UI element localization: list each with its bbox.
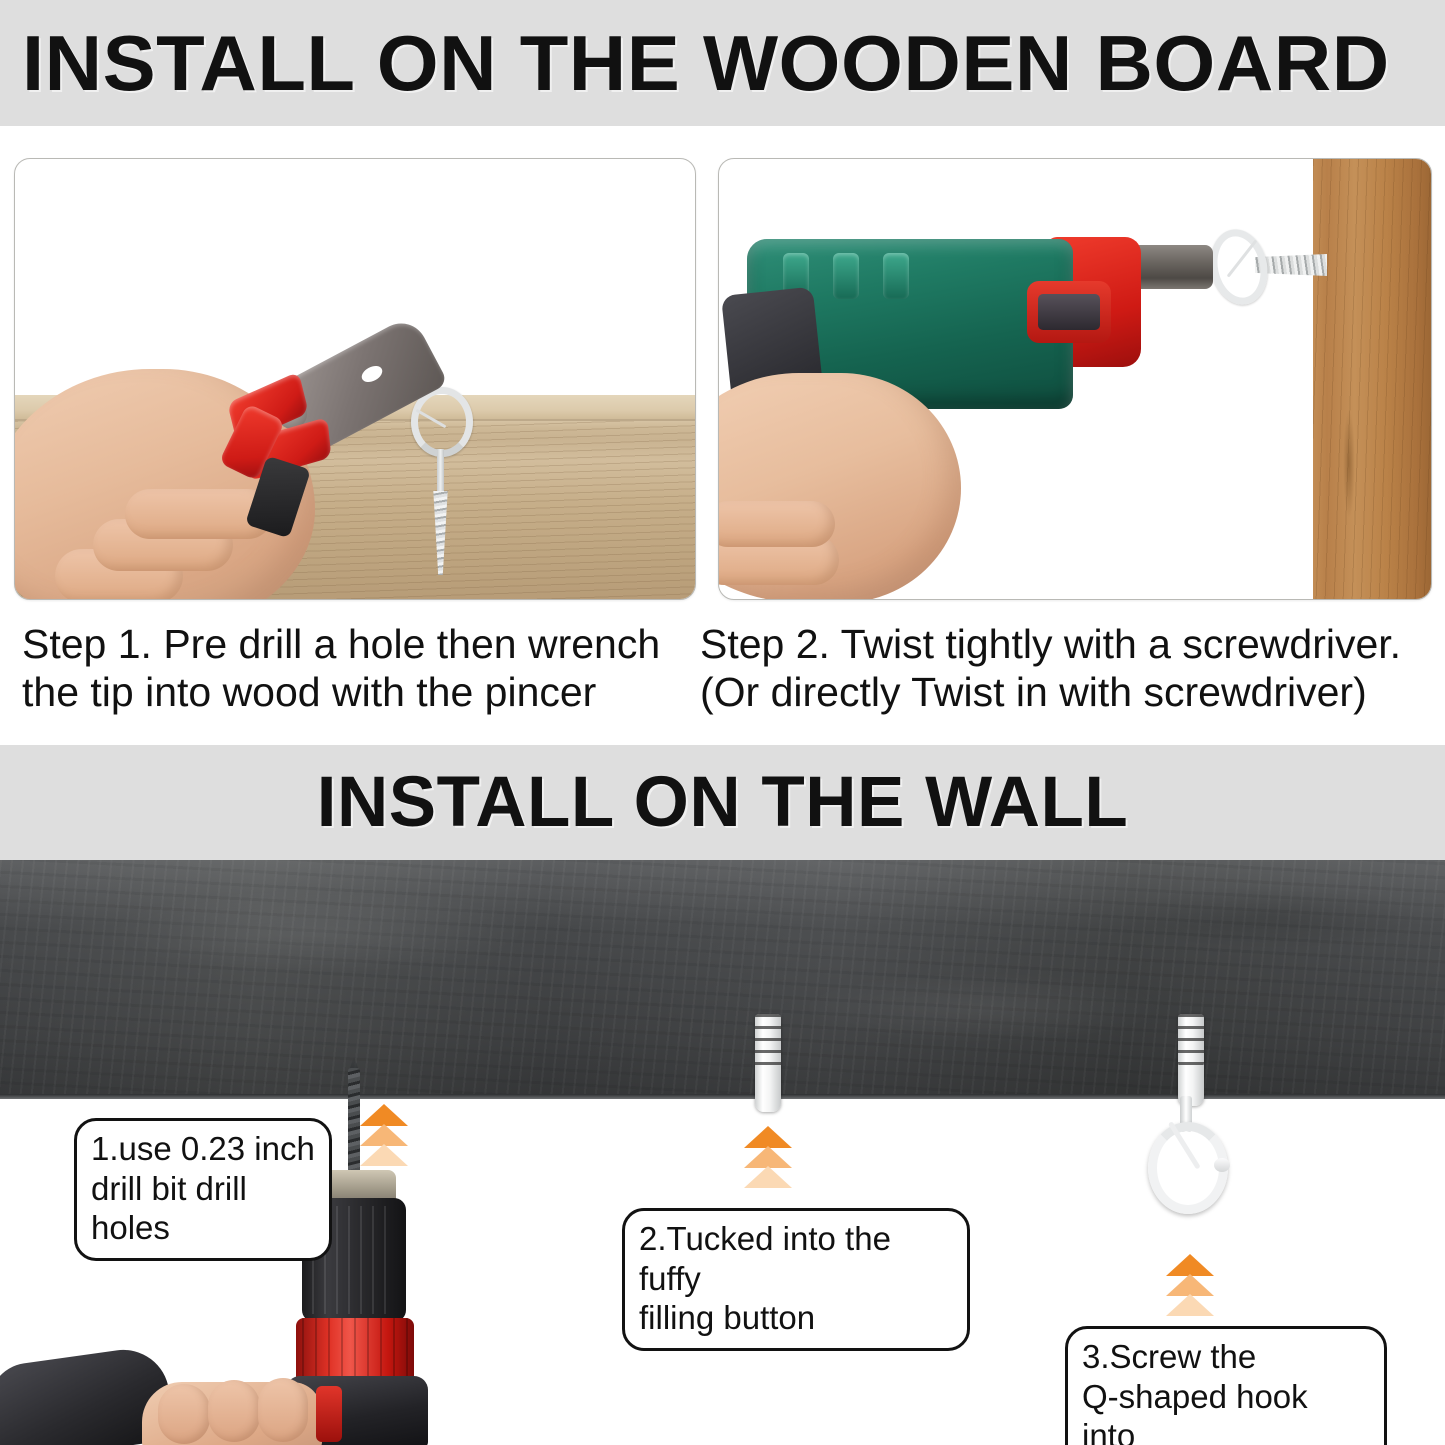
- q-shaped-hook-icon: [1142, 1098, 1242, 1226]
- callout-step-3: 3.Screw the Q-shaped hook into the fuffy…: [1065, 1326, 1387, 1445]
- chevron-arrows-up-icon: [360, 1104, 408, 1164]
- vent: [883, 253, 909, 299]
- chevron-icon: [744, 1126, 792, 1148]
- photo-step-2: [718, 158, 1432, 600]
- wall-anchor-plug-icon: [755, 1014, 781, 1112]
- wooden-post: [1313, 159, 1431, 599]
- callout-step-2: 2.Tucked into the fuffy filling button: [622, 1208, 970, 1351]
- scene-screwdriver-post: [719, 159, 1431, 599]
- step-2-caption: Step 2. Twist tightly with a screwdriver…: [700, 620, 1430, 717]
- drill-trigger: [316, 1386, 342, 1442]
- wood-grain: [1343, 409, 1355, 519]
- concrete-wall: [0, 860, 1445, 1098]
- section-header-wooden-board: INSTALL ON THE WOODEN BOARD: [0, 0, 1445, 126]
- chevron-icon: [1166, 1254, 1214, 1276]
- anchor-ribs: [755, 1014, 781, 1071]
- chevron-icon: [360, 1144, 408, 1166]
- pliers-icon: [211, 345, 451, 555]
- wall-anchor-plug-icon: [1178, 1014, 1204, 1106]
- finger: [718, 501, 835, 547]
- photo-step-1: [14, 158, 696, 600]
- chevron-arrows-up-icon: [1166, 1254, 1214, 1314]
- instruction-infographic: INSTALL ON THE WOODEN BOARD: [0, 0, 1445, 1445]
- direction-switch-face: [1038, 294, 1100, 330]
- section-header-wall: INSTALL ON THE WALL: [0, 745, 1445, 860]
- vent: [833, 253, 859, 299]
- finger: [158, 1384, 210, 1444]
- finger: [258, 1378, 308, 1442]
- anchor-ribs: [1178, 1014, 1204, 1067]
- direction-switch: [1027, 281, 1111, 343]
- chevron-arrows-up-icon: [744, 1126, 792, 1186]
- q-shaped-hook-icon: [1203, 223, 1283, 319]
- scene-pliers-wood: [15, 159, 695, 599]
- drill-clutch-ring: [296, 1318, 414, 1384]
- chevron-icon: [744, 1166, 792, 1188]
- callout-step-1: 1.use 0.23 inch drill bit drill holes: [74, 1118, 332, 1261]
- hook-nub: [1214, 1158, 1230, 1172]
- section-header-wall-text: INSTALL ON THE WALL: [317, 767, 1128, 838]
- step-1-caption: Step 1. Pre drill a hole then wrench the…: [22, 620, 682, 717]
- drill-bit: [348, 1068, 360, 1176]
- finger: [208, 1380, 260, 1442]
- chevron-icon: [360, 1104, 408, 1126]
- chevron-icon: [360, 1124, 408, 1146]
- chevron-icon: [744, 1146, 792, 1168]
- section-header-wooden-board-text: INSTALL ON THE WOODEN BOARD: [22, 24, 1390, 102]
- chevron-icon: [1166, 1294, 1214, 1316]
- chevron-icon: [1166, 1274, 1214, 1296]
- hook-ring: [1204, 224, 1275, 310]
